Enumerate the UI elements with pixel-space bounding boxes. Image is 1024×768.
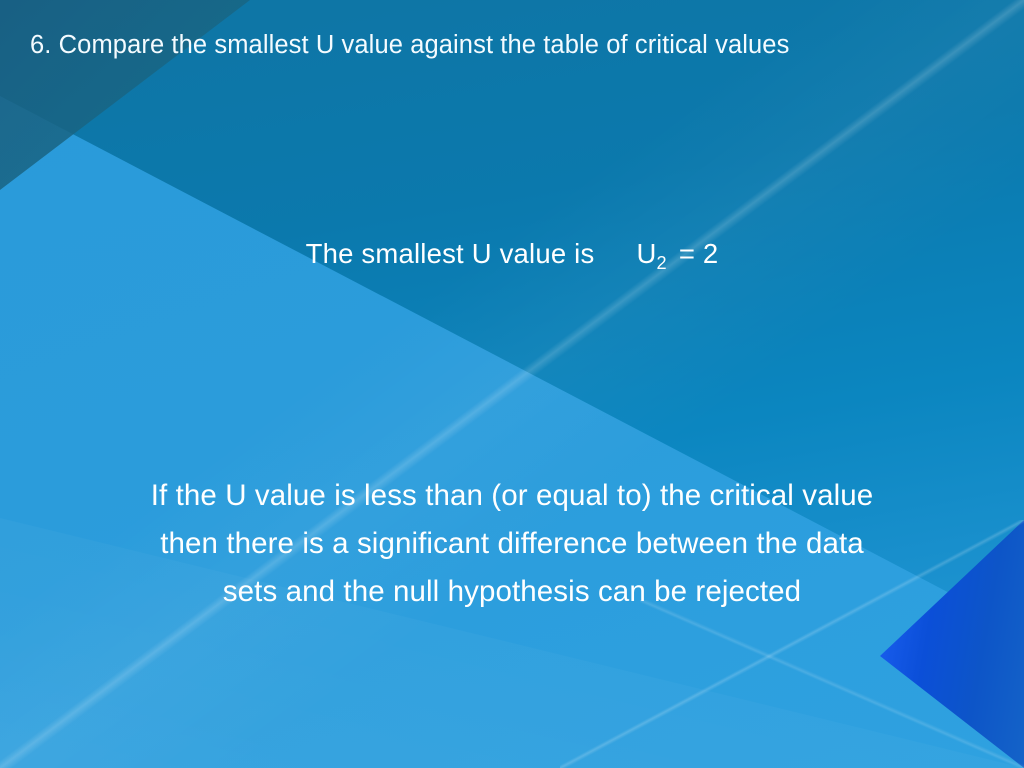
u-symbol: U xyxy=(636,238,656,269)
conclusion-line-2: then there is a significant difference b… xyxy=(42,520,982,568)
u-equals-value: = 2 xyxy=(679,238,719,269)
smallest-u-statement: The smallest U value isU2= 2 xyxy=(0,236,1024,272)
conclusion-line-3: sets and the null hypothesis can be reje… xyxy=(42,568,982,616)
slide: 6. Compare the smallest U value against … xyxy=(0,0,1024,768)
conclusion-text: If the U value is less than (or equal to… xyxy=(42,472,982,616)
statement-lead-text: The smallest U value is xyxy=(306,238,595,269)
slide-title: 6. Compare the smallest U value against … xyxy=(30,30,990,62)
u-subscript: 2 xyxy=(657,253,667,273)
slide-content: 6. Compare the smallest U value against … xyxy=(0,0,1024,768)
conclusion-line-1: If the U value is less than (or equal to… xyxy=(42,472,982,520)
